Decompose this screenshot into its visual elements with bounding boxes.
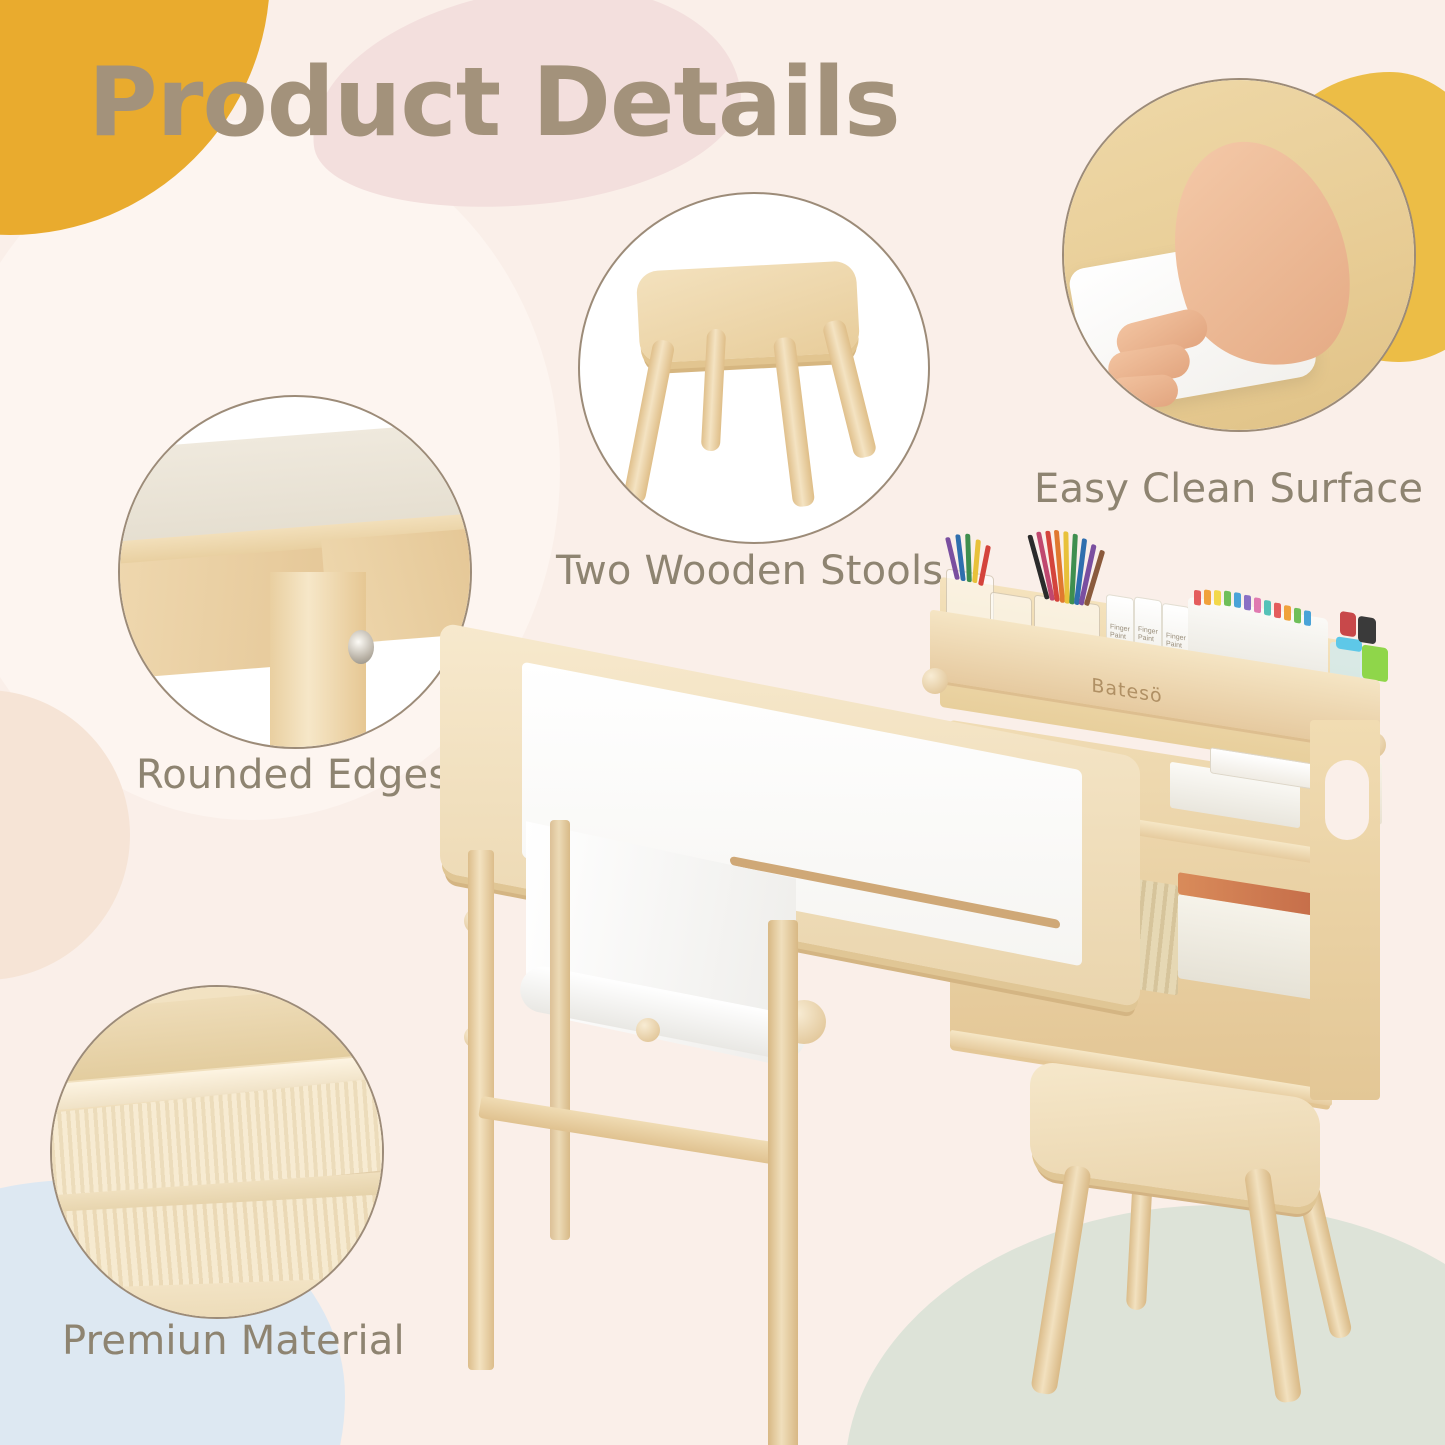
- feature-image-easy-clean-surface: [1062, 78, 1416, 432]
- feature-image-two-wooden-stools: [578, 192, 930, 544]
- table-leg-front-right: [768, 920, 798, 1445]
- screw-icon: [348, 630, 374, 664]
- table-stretcher-bar: [478, 1096, 788, 1166]
- stool-leg: [773, 336, 816, 507]
- table-leg: [270, 572, 366, 749]
- peach-blob-midleft: [0, 690, 130, 980]
- page-title: Product Details: [88, 48, 900, 158]
- feature-image-rounded-edges: [118, 395, 472, 749]
- cabinet-handle-cutout: [1325, 760, 1369, 840]
- wood-knob: [636, 1018, 660, 1042]
- feature-image-premiun-material: [50, 985, 384, 1319]
- product-main-image: Finger Paint Finger Paint Finger Paint F…: [430, 520, 1430, 1400]
- paint-container: [1362, 644, 1388, 682]
- feature-caption-rounded-edges: Rounded Edges: [136, 752, 449, 798]
- wood-knob: [922, 668, 948, 694]
- paint-bottle: [1358, 616, 1376, 645]
- finger: [1107, 374, 1179, 411]
- feature-caption-easy-clean-surface: Easy Clean Surface: [1034, 466, 1423, 512]
- table-leg-back-left: [550, 820, 570, 1240]
- stool-leg-front: [1030, 1164, 1092, 1395]
- feature-caption-premiun-material: Premiun Material: [62, 1318, 405, 1364]
- infographic-canvas: Product Details Rounded Edges Two Wooden…: [0, 0, 1445, 1445]
- stool-leg: [622, 338, 675, 504]
- paint-bottle: [1340, 611, 1356, 638]
